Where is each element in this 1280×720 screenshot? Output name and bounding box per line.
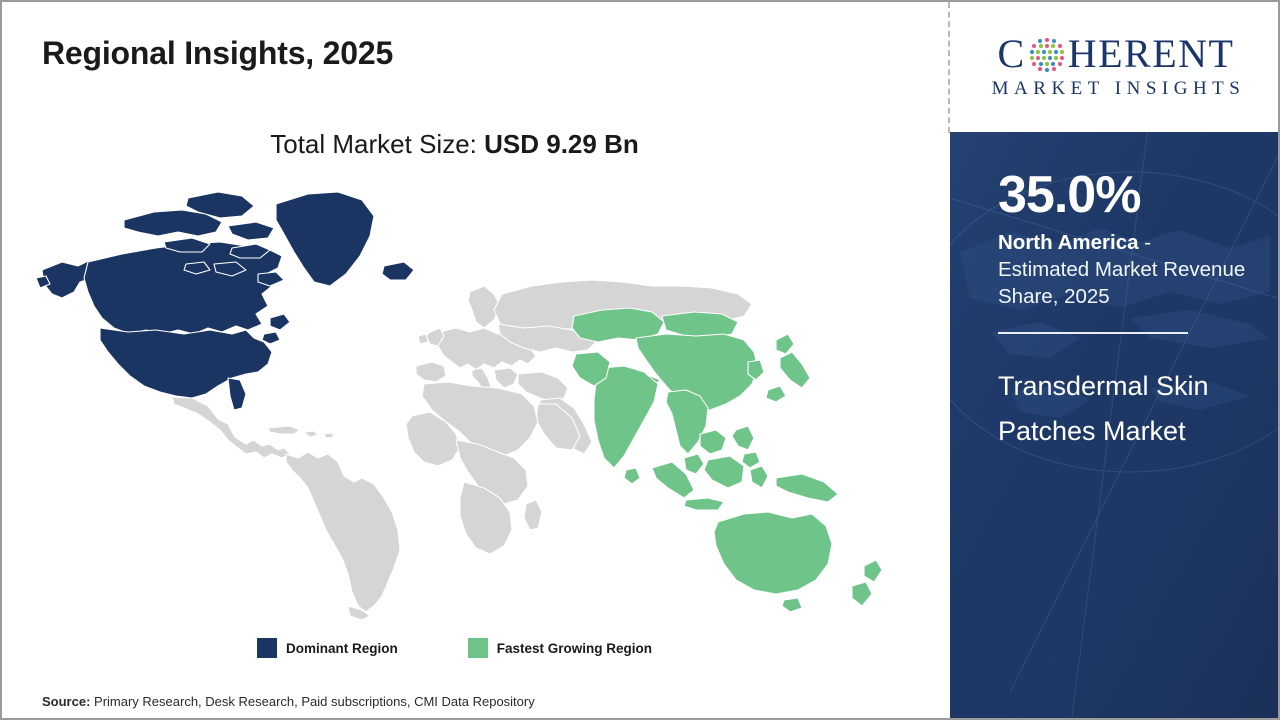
logo-wordmark-rest: HERENT [1068, 34, 1235, 74]
stat-panel: 35.0% North America - Estimated Market R… [950, 132, 1280, 718]
market-size-label: Total Market Size: [270, 129, 477, 159]
logo-letter-c: C [998, 34, 1026, 74]
logo-wordmark-top: C [998, 34, 1235, 74]
source-text: Primary Research, Desk Research, Paid su… [90, 694, 534, 709]
stat-panel-content: 35.0% North America - Estimated Market R… [950, 132, 1280, 718]
map-region-rest-of-world [172, 280, 752, 620]
market-name: Transdermal Skin Patches Market [998, 364, 1248, 454]
page-title: Regional Insights, 2025 [42, 35, 393, 72]
total-market-size: Total Market Size: USD 9.29 Bn [2, 129, 907, 160]
infographic-frame: Regional Insights, 2025 Total Market Siz… [0, 0, 1280, 720]
left-content-pane: Regional Insights, 2025 Total Market Siz… [2, 2, 950, 718]
legend-item-fastest-growing: Fastest Growing Region [468, 638, 652, 658]
legend-item-dominant: Dominant Region [257, 638, 398, 658]
source-note: Source: Primary Research, Desk Research,… [42, 694, 535, 709]
stat-region-name: North America [998, 231, 1139, 254]
stat-description: North America - Estimated Market Revenue… [998, 229, 1246, 311]
logo-wordmark-bottom: MARKET INSIGHTS [987, 78, 1246, 100]
legend-label-dominant: Dominant Region [286, 641, 398, 656]
map-legend: Dominant Region Fastest Growing Region [2, 638, 907, 658]
brand-logo: C [952, 4, 1280, 130]
green-swatch-icon [468, 638, 488, 658]
panel-divider-rule [998, 332, 1188, 334]
map-region-asia-pacific [572, 308, 882, 612]
stat-value: 35.0% [998, 168, 1250, 223]
market-size-value: USD 9.29 Bn [484, 129, 639, 159]
world-map [32, 182, 912, 622]
source-label: Source: [42, 694, 90, 709]
navy-swatch-icon [257, 638, 277, 658]
dotted-globe-icon [1027, 34, 1067, 74]
legend-label-fastest-growing: Fastest Growing Region [497, 641, 652, 656]
map-region-north-america [36, 192, 414, 410]
vertical-dashed-divider [948, 2, 950, 133]
